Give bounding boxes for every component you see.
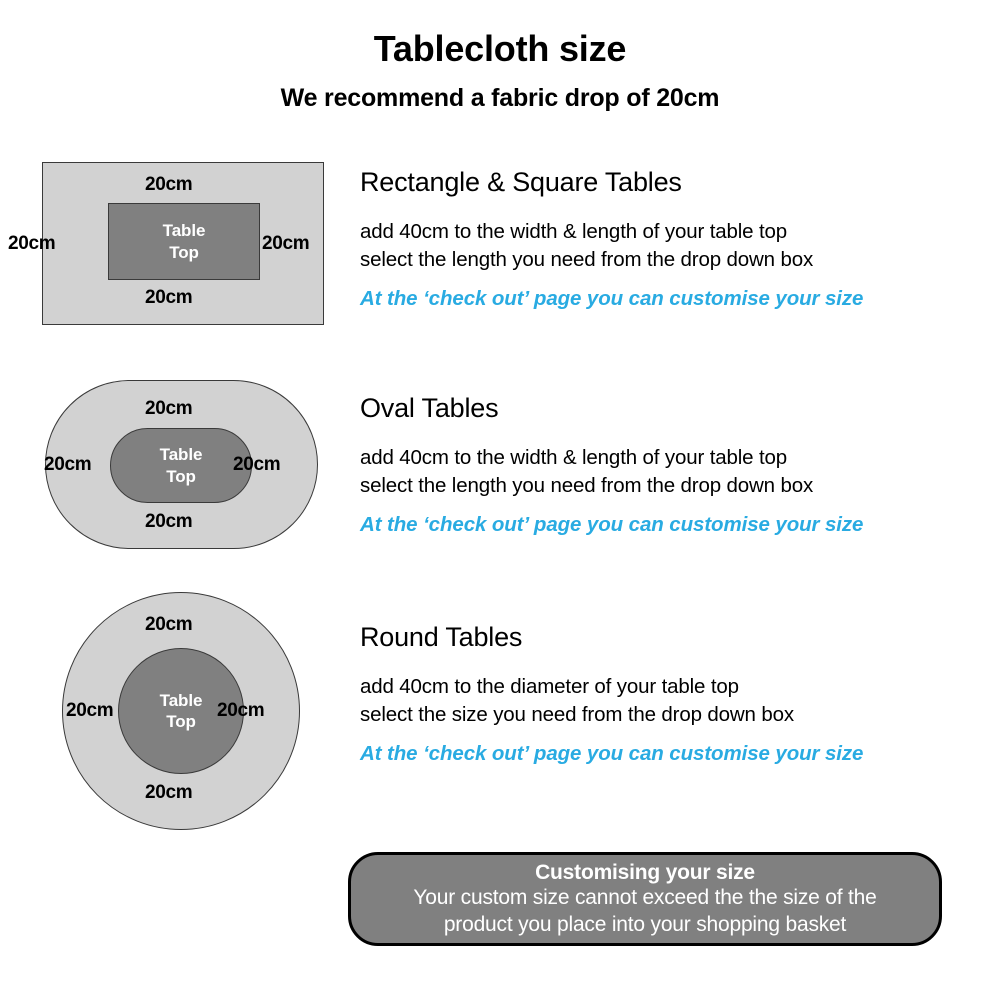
rectangle-table-top-shape: TableTop [108,203,260,280]
oval-checkout-note: At the ‘check out’ page you can customis… [360,513,980,537]
rectangle-drop-label-bottom: 20cm [145,287,192,309]
table-top-label: TableTop [163,220,206,263]
callout-title: Customising your size [535,860,755,886]
round-table-diagram: TableTop 20cm 20cm 20cm 20cm [62,592,300,830]
rectangle-heading: Rectangle & Square Tables [360,168,980,198]
table-top-label: TableTop [160,444,203,487]
round-drop-label-right: 20cm [217,700,264,722]
page-subtitle: We recommend a fabric drop of 20cm [0,84,1000,113]
rectangle-instruction-2: select the length you need from the drop… [360,246,980,274]
callout-line-1: Your custom size cannot exceed the the s… [413,885,876,911]
oval-instruction-2: select the length you need from the drop… [360,472,980,500]
oval-text-block: Oval Tables add 40cm to the width & leng… [360,394,980,537]
callout-line-2: product you place into your shopping bas… [444,912,846,938]
round-heading: Round Tables [360,623,980,653]
rectangle-drop-label-top: 20cm [145,174,192,196]
rectangle-table-diagram: TableTop 20cm 20cm 20cm 20cm [42,162,324,325]
oval-drop-label-bottom: 20cm [145,511,192,533]
oval-table-diagram: TableTop 20cm 20cm 20cm 20cm [45,380,318,549]
oval-drop-label-right: 20cm [233,454,280,476]
round-text-block: Round Tables add 40cm to the diameter of… [360,623,980,766]
round-drop-label-top: 20cm [145,614,192,636]
rectangle-instruction-1: add 40cm to the width & length of your t… [360,218,980,246]
table-top-label: TableTop [160,690,203,733]
round-drop-label-left: 20cm [66,700,113,722]
rectangle-drop-label-left: 20cm [8,233,55,255]
oval-instruction-1: add 40cm to the width & length of your t… [360,444,980,472]
round-drop-label-bottom: 20cm [145,782,192,804]
oval-drop-label-left: 20cm [44,454,91,476]
customising-your-size-callout: Customising your size Your custom size c… [348,852,942,946]
round-instruction-1: add 40cm to the diameter of your table t… [360,673,980,701]
round-instruction-2: select the size you need from the drop d… [360,701,980,729]
oval-drop-label-top: 20cm [145,398,192,420]
page-title: Tablecloth size [0,28,1000,70]
rectangle-drop-label-right: 20cm [262,233,309,255]
rectangle-checkout-note: At the ‘check out’ page you can customis… [360,287,980,311]
oval-heading: Oval Tables [360,394,980,424]
rectangle-text-block: Rectangle & Square Tables add 40cm to th… [360,168,980,311]
round-checkout-note: At the ‘check out’ page you can customis… [360,742,980,766]
oval-table-top-shape: TableTop [110,428,252,503]
